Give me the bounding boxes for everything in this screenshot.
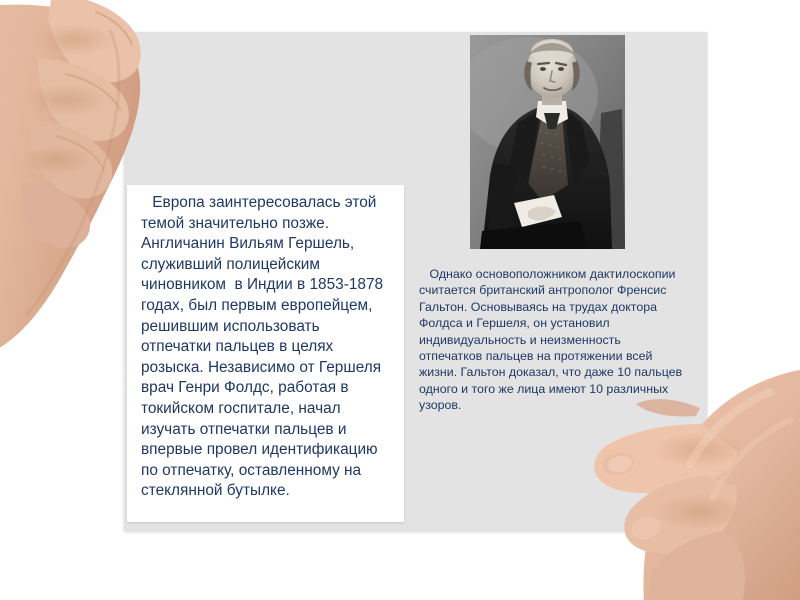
slide-stage: Европа заинтересовалась этой темой значи…: [0, 0, 800, 600]
right-paragraph-text: Однако основоположником дактилоскопии сч…: [419, 266, 685, 414]
portrait-image: [470, 35, 625, 249]
portrait-photo: [470, 35, 625, 249]
left-paragraph-text: Европа заинтересовалась этой темой значи…: [141, 193, 393, 502]
left-hand: [0, 0, 141, 360]
white-text-card: Европа заинтересовалась этой темой значи…: [127, 185, 404, 522]
